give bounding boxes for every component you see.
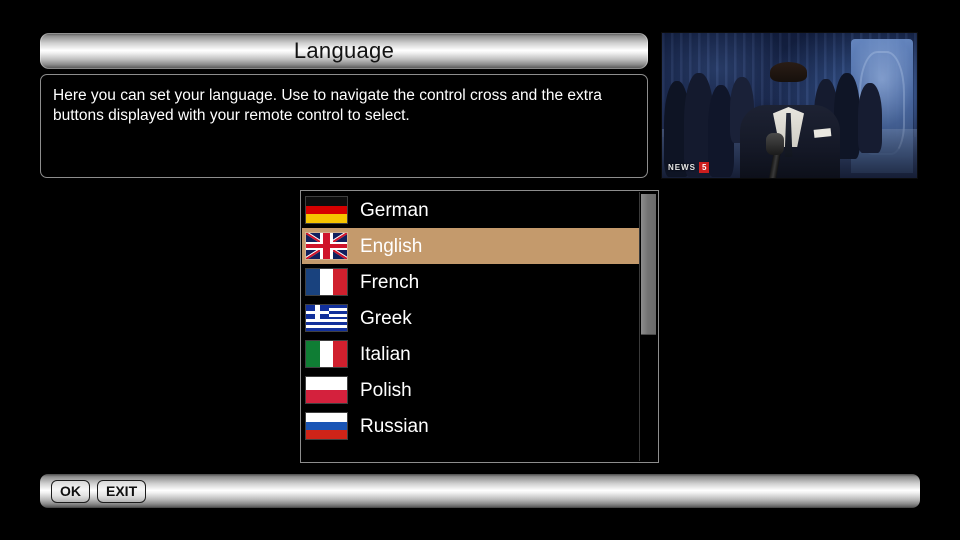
list-item-label: German (360, 201, 429, 220)
footer-button-bar: OK EXIT (40, 474, 920, 508)
ok-button[interactable]: OK (51, 480, 90, 503)
list-item[interactable]: Greek (302, 300, 642, 336)
list-item-label: Polish (360, 381, 412, 400)
list-item[interactable]: Polish (302, 372, 642, 408)
title-bar: Language (40, 33, 648, 69)
list-item[interactable]: German (302, 192, 642, 228)
tv-osd-screen: Language Here you can set your language.… (0, 0, 960, 540)
flag-poland-icon (306, 377, 347, 403)
exit-button[interactable]: EXIT (97, 480, 146, 503)
list-item-label: Italian (360, 345, 411, 364)
crowd-figure (858, 83, 882, 153)
page-title: Language (294, 40, 394, 62)
microphone-head (766, 133, 784, 155)
scrollbar-track[interactable] (639, 192, 657, 461)
reporter-head (772, 67, 805, 108)
flag-russia-icon (306, 413, 347, 439)
list-item-label: French (360, 273, 419, 292)
video-preview[interactable]: NEWS 5 (661, 32, 918, 179)
list-item[interactable]: Russian (302, 408, 642, 444)
description-text: Here you can set your language. Use to n… (53, 86, 635, 126)
channel-bug-text: NEWS (668, 163, 696, 172)
language-list: German English French (302, 192, 642, 461)
list-item[interactable]: English (302, 228, 642, 264)
list-item[interactable]: French (302, 264, 642, 300)
flag-italy-icon (306, 341, 347, 367)
channel-bug-badge: 5 (699, 162, 709, 173)
channel-logo-bug: NEWS 5 (668, 162, 709, 173)
flag-united-kingdom-icon (306, 233, 347, 259)
flag-germany-icon (306, 197, 347, 223)
flag-france-icon (306, 269, 347, 295)
scrollbar-thumb[interactable] (641, 194, 656, 335)
list-item-label: English (360, 237, 422, 256)
language-list-panel: German English French (300, 190, 659, 463)
list-item-label: Russian (360, 417, 429, 436)
flag-greece-icon (306, 305, 347, 331)
list-item-label: Greek (360, 309, 412, 328)
description-box: Here you can set your language. Use to n… (40, 74, 648, 178)
list-item[interactable]: Italian (302, 336, 642, 372)
